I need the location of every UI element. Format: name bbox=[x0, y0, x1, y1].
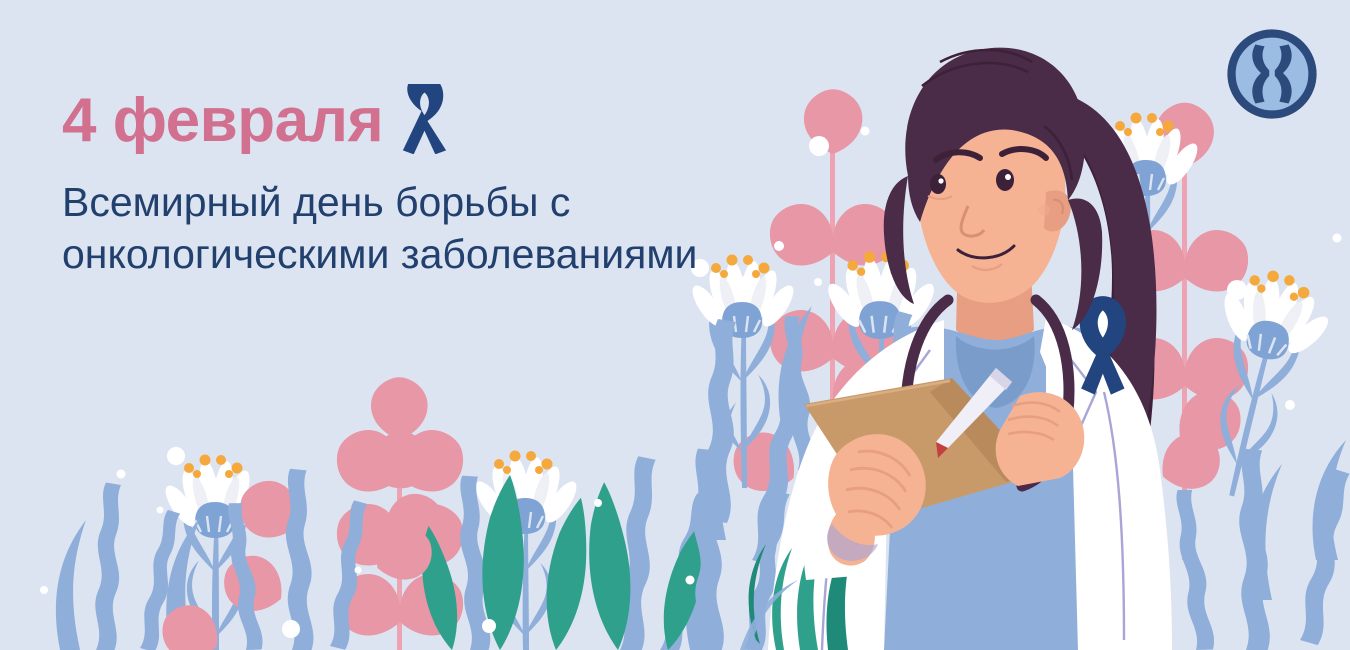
headline-row: 4 февраля bbox=[62, 84, 762, 158]
headline-block: 4 февраля Всемирный день борьбы с онколо… bbox=[62, 84, 762, 280]
page-subtitle: Всемирный день борьбы с онкологическими … bbox=[62, 176, 742, 280]
poster-canvas: 4 февраля Всемирный день борьбы с онколо… bbox=[0, 0, 1350, 650]
chromosome-logo[interactable] bbox=[1226, 28, 1318, 120]
awareness-ribbon-icon bbox=[397, 84, 451, 154]
page-title: 4 февраля bbox=[62, 90, 383, 152]
